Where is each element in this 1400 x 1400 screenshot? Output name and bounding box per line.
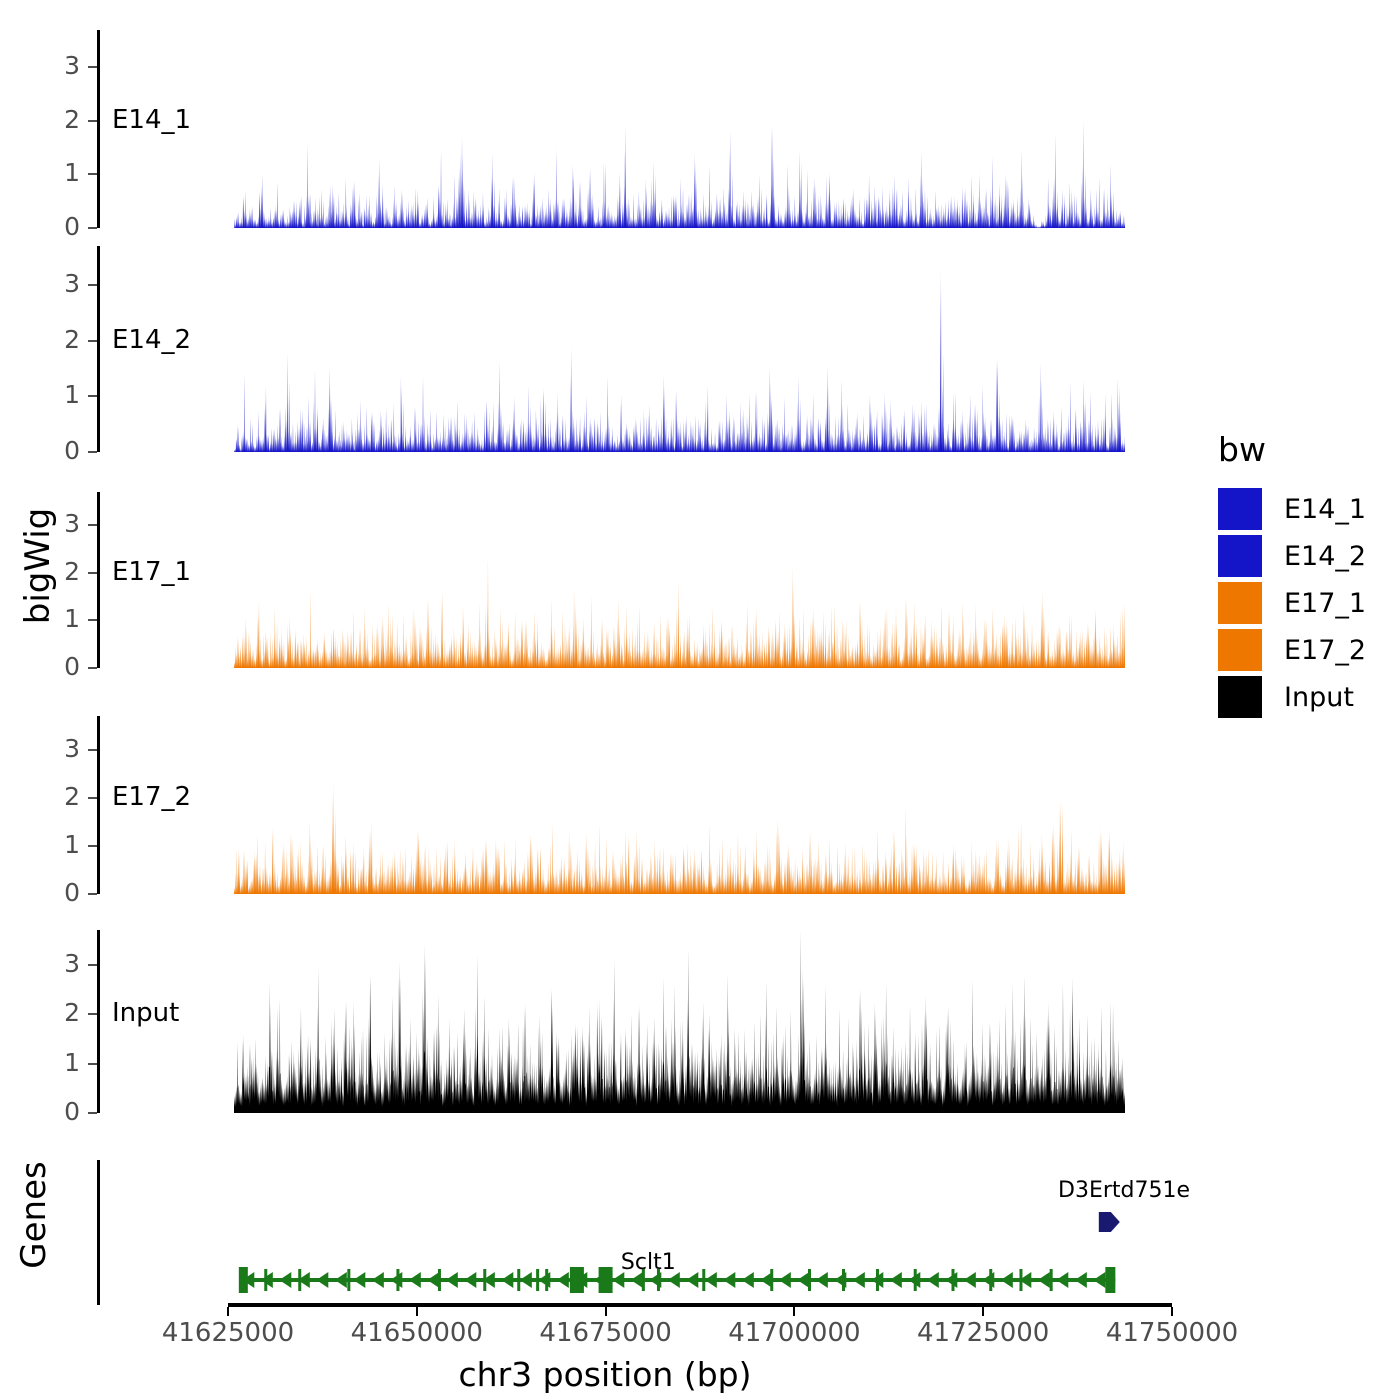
legend-item-E14_1[interactable]: E14_1 <box>1218 487 1366 531</box>
y-tick-E17_2-1 <box>88 845 97 847</box>
legend-item-E14_2[interactable]: E14_2 <box>1218 534 1366 578</box>
x-tick-41675000 <box>605 1307 607 1316</box>
signal-track-E17_1 <box>234 492 1125 668</box>
signal-track-E14_2 <box>234 246 1125 452</box>
y-tick-E14_1-2 <box>88 120 97 122</box>
y-tick-E17_1-1 <box>88 619 97 621</box>
y-tick-label-E17_2-1: 1 <box>28 830 80 859</box>
y-tick-E17_2-0 <box>88 893 97 895</box>
y-axis-line-E14_2 <box>97 246 100 452</box>
x-axis-title: chr3 position (bp) <box>0 1355 1210 1394</box>
y-tick-E17_2-2 <box>88 797 97 799</box>
y-tick-label-E17_1-1: 1 <box>28 604 80 633</box>
y-tick-Input-2 <box>88 1013 97 1015</box>
track-label-E17_2: E17_2 <box>112 782 191 812</box>
legend-items: E14_1E14_2E17_1E17_2Input <box>1218 487 1366 719</box>
legend-swatch-Input <box>1218 676 1262 718</box>
track-label-E17_1: E17_1 <box>112 557 191 587</box>
legend-title: bw <box>1218 430 1366 469</box>
y-tick-label-E14_2-0: 0 <box>28 436 80 465</box>
x-tick-41750000 <box>1171 1307 1173 1316</box>
x-tick-label-41625000: 41625000 <box>128 1318 328 1348</box>
y-tick-E14_2-2 <box>88 340 97 342</box>
legend-swatch-E17_1 <box>1218 582 1262 624</box>
y-tick-label-E14_1-1: 1 <box>28 158 80 187</box>
track-label-E14_1: E14_1 <box>112 105 191 135</box>
x-tick-label-41675000: 41675000 <box>506 1318 706 1348</box>
x-tick-41625000 <box>227 1307 229 1316</box>
y-axis-line-E14_1 <box>97 30 100 228</box>
x-tick-label-41725000: 41725000 <box>883 1318 1083 1348</box>
gene-label-D3Ertd751e: D3Ertd751e <box>1058 1178 1190 1203</box>
y-tick-E14_1-1 <box>88 173 97 175</box>
y-axis-line-E17_1 <box>97 492 100 668</box>
y-tick-label-E17_1-0: 0 <box>28 652 80 681</box>
legend-item-E17_1[interactable]: E17_1 <box>1218 581 1366 625</box>
y-tick-label-Input-2: 2 <box>28 998 80 1027</box>
y-tick-Input-1 <box>88 1063 97 1065</box>
y-tick-E17_1-0 <box>88 667 97 669</box>
y-tick-Input-0 <box>88 1112 97 1114</box>
signal-track-E14_1 <box>234 30 1125 228</box>
y-tick-label-E17_1-2: 2 <box>28 557 80 586</box>
track-label-Input: Input <box>112 998 179 1028</box>
y-tick-label-E14_1-0: 0 <box>28 212 80 241</box>
y-tick-Input-3 <box>88 964 97 966</box>
y-tick-label-E17_2-2: 2 <box>28 782 80 811</box>
y-tick-label-E14_1-2: 2 <box>28 105 80 134</box>
y-tick-label-E17_2-3: 3 <box>28 734 80 763</box>
signal-track-Input <box>234 930 1125 1113</box>
x-tick-41700000 <box>793 1307 795 1316</box>
y-tick-E14_2-3 <box>88 284 97 286</box>
y-axis-line-Input <box>97 930 100 1113</box>
y-tick-E14_2-1 <box>88 395 97 397</box>
y-tick-label-E14_2-2: 2 <box>28 325 80 354</box>
y-tick-label-E14_1-3: 3 <box>28 51 80 80</box>
legend: bw E14_1E14_2E17_1E17_2Input <box>1218 430 1366 722</box>
legend-item-Input[interactable]: Input <box>1218 675 1366 719</box>
legend-label-E17_1: E17_1 <box>1284 588 1366 619</box>
x-tick-label-41700000: 41700000 <box>694 1318 894 1348</box>
x-tick-41725000 <box>982 1307 984 1316</box>
y-tick-E17_1-2 <box>88 572 97 574</box>
legend-swatch-E17_2 <box>1218 629 1262 671</box>
y-tick-label-Input-1: 1 <box>28 1048 80 1077</box>
y-axis-line-E17_2 <box>97 716 100 894</box>
x-tick-label-41650000: 41650000 <box>317 1318 517 1348</box>
legend-swatch-E14_1 <box>1218 488 1262 530</box>
y-tick-E17_1-3 <box>88 524 97 526</box>
y-tick-label-Input-3: 3 <box>28 949 80 978</box>
y-tick-label-Input-0: 0 <box>28 1097 80 1126</box>
legend-swatch-E14_2 <box>1218 535 1262 577</box>
legend-item-E17_2[interactable]: E17_2 <box>1218 628 1366 672</box>
x-axis-line <box>228 1303 1172 1307</box>
gene-label-Sclt1: Sclt1 <box>621 1250 676 1275</box>
legend-label-E17_2: E17_2 <box>1284 635 1366 666</box>
legend-label-E14_2: E14_2 <box>1284 541 1366 572</box>
y-tick-E14_2-0 <box>88 451 97 453</box>
y-tick-label-E14_2-3: 3 <box>28 269 80 298</box>
y-tick-E14_1-3 <box>88 66 97 68</box>
y-tick-label-E17_1-3: 3 <box>28 509 80 538</box>
legend-label-Input: Input <box>1284 682 1354 713</box>
y-tick-label-E14_2-1: 1 <box>28 380 80 409</box>
signal-track-E17_2 <box>234 716 1125 894</box>
track-label-E14_2: E14_2 <box>112 325 191 355</box>
genes-track: Sclt1D3Ertd751e <box>0 1150 1210 1305</box>
x-tick-41650000 <box>416 1307 418 1316</box>
legend-label-E14_1: E14_1 <box>1284 494 1366 525</box>
y-tick-label-E17_2-0: 0 <box>28 878 80 907</box>
y-tick-E14_1-0 <box>88 227 97 229</box>
y-tick-E17_2-3 <box>88 749 97 751</box>
x-tick-label-41750000: 41750000 <box>1072 1318 1272 1348</box>
bigwig-genome-browser-figure: bigWig Genes 0123E14_10123E14_20123E17_1… <box>0 0 1400 1400</box>
